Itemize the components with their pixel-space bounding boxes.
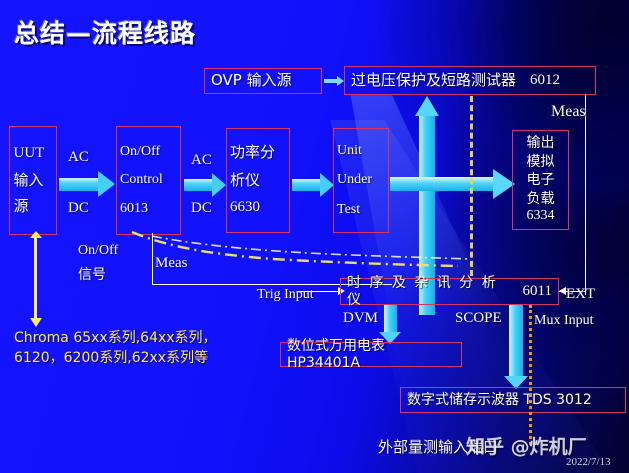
box-onoff-control[interactable]: On/Off Control 6013 <box>116 126 181 235</box>
label-dc-1: DC <box>68 200 89 217</box>
arrow-to-eload-shaft <box>390 177 494 191</box>
box-unit-under-test[interactable]: Unit Under Test <box>333 128 389 233</box>
arrow-control-to-analyzer <box>184 179 213 191</box>
arrow-up-to-ovp-head <box>415 96 439 116</box>
box-eload-line1: 输出 <box>513 135 568 152</box>
label-chroma-line1: Chroma 65xx系列,64xx系列， <box>14 327 217 347</box>
box-eload-line4: 负载 <box>513 191 568 208</box>
label-chroma-line2: 6120，6200系列,62xx系列等 <box>14 347 208 367</box>
slide-canvas: 总结—流程线路 OVP 输入源 过电压保护及短路测试器 6012 Meas UU… <box>0 0 629 473</box>
box-ovp-source[interactable]: OVP 输入源 <box>204 68 322 94</box>
box-eload-line2: 模拟 <box>513 154 568 171</box>
watermark-text: 知乎 @炸机厂 <box>466 432 587 459</box>
watermark-date: 2022/7/13 <box>566 456 611 468</box>
box-ovp-tester[interactable]: 过电压保护及短路测试器 6012 <box>344 66 596 95</box>
label-ext: EXT <box>566 286 595 303</box>
label-mux-input: Mux Input <box>534 313 594 329</box>
box-timing-analyzer-label: 时 序 及 杂 讯 分 析 仪 <box>347 275 514 308</box>
box-power-analyzer-line3: 6630 <box>224 199 292 217</box>
label-meas-right: Meas <box>551 103 586 121</box>
box-onoff-control-line3: 6013 <box>114 201 183 218</box>
label-onoff-signal-line2: 信号 <box>78 264 106 284</box>
box-ovp-tester-model: 6012 <box>530 72 560 90</box>
box-eload[interactable]: 输出 模拟 电子 负载 6334 <box>512 130 569 230</box>
chroma-arrow-shaft <box>34 234 37 320</box>
box-uut[interactable]: UUT 输入 源 <box>9 126 57 235</box>
box-uut-line1: UUT <box>7 145 60 163</box>
label-ac-2: AC <box>191 152 212 169</box>
meas-right-vline <box>585 95 586 295</box>
label-trig-input: Trig Input <box>257 287 314 303</box>
label-ac-1: AC <box>68 149 89 166</box>
box-scope-label: 数字式储存示波器 TDS 3012 <box>407 392 619 409</box>
arrow-uut-to-control <box>59 178 99 191</box>
box-unit-under-test-line3: Test <box>331 202 391 219</box>
box-timing-analyzer[interactable]: 时 序 及 杂 讯 分 析 仪 6011 <box>340 278 559 305</box>
trig-input-line <box>297 291 340 292</box>
arrow-ovp-to-tester-head <box>337 76 344 86</box>
box-onoff-control-line2: Control <box>114 172 183 189</box>
box-dmm[interactable]: 数位式万用电表 HP34401A <box>280 342 462 367</box>
label-dc-2: DC <box>191 200 212 217</box>
label-scope: SCOPE <box>455 310 502 327</box>
box-timing-analyzer-model: 6011 <box>523 283 552 301</box>
box-unit-under-test-line1: Unit <box>331 143 391 160</box>
box-uut-line3: 源 <box>7 198 60 216</box>
box-power-analyzer[interactable]: 功率分 析仪 6630 <box>226 128 290 233</box>
arrow-scope-shaft <box>509 305 523 377</box>
box-scope[interactable]: 数字式储存示波器 TDS 3012 <box>400 387 626 413</box>
box-power-analyzer-line1: 功率分 <box>224 144 292 162</box>
ext-connector-arrowhead <box>559 287 566 295</box>
dotted-mux-input-line <box>529 305 532 445</box>
box-dmm-label: 数位式万用电表 HP34401A <box>287 338 455 371</box>
label-dvm: DVM <box>343 310 378 327</box>
box-unit-under-test-line2: Under <box>331 172 391 189</box>
box-uut-line2: 输入 <box>7 172 60 190</box>
arrow-ovp-to-tester <box>324 79 338 83</box>
box-ovp-source-label: OVP 输入源 <box>211 72 315 90</box>
label-onoff-signal-line1: On/Off <box>78 243 118 259</box>
arrow-analyzer-to-uut <box>292 179 321 191</box>
chroma-arrow-head <box>30 318 42 327</box>
box-eload-line5: 6334 <box>513 208 568 225</box>
chroma-arrow-tail <box>30 231 42 238</box>
dashdot-curve-decoration-2 <box>152 234 472 274</box>
box-eload-line3: 电子 <box>513 172 568 189</box>
box-onoff-control-line1: On/Off <box>114 144 183 161</box>
slide-title: 总结—流程线路 <box>14 14 196 50</box>
box-power-analyzer-line2: 析仪 <box>224 172 292 190</box>
arrow-uut-to-control-head <box>98 171 115 197</box>
arrow-dvm-shaft <box>384 305 397 333</box>
box-ovp-tester-label: 过电压保护及短路测试器 <box>351 72 516 90</box>
